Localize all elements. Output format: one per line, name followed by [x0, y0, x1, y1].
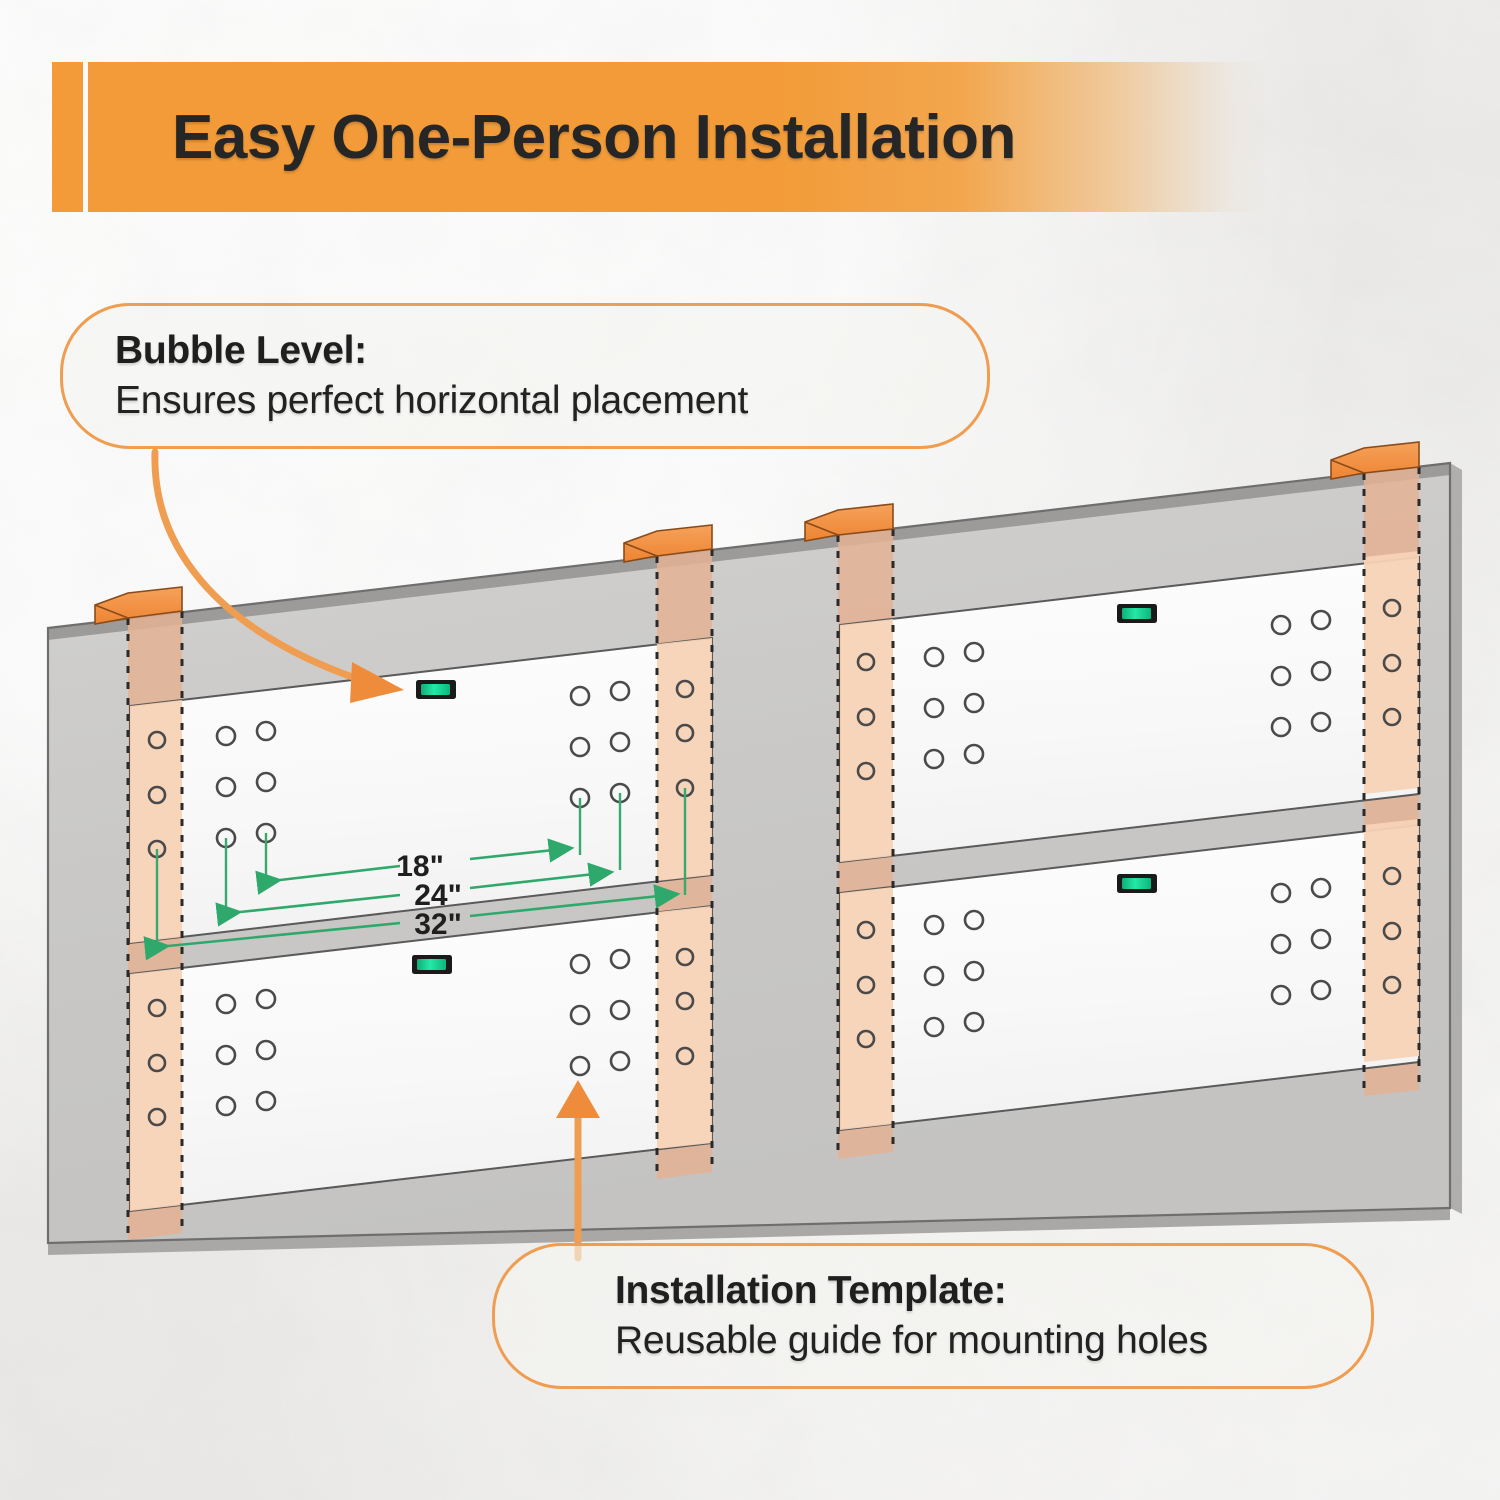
callout-installation-template-body: Reusable guide for mounting holes	[615, 1318, 1329, 1365]
bubble-level	[1117, 874, 1157, 893]
bubble-level	[412, 955, 452, 974]
dimension-label-32: 32"	[414, 908, 462, 941]
callout-bubble-level: Bubble Level: Ensures perfect horizontal…	[60, 303, 990, 449]
callout-installation-template: Installation Template: Reusable guide fo…	[492, 1243, 1374, 1389]
callout-bubble-level-title: Bubble Level:	[115, 328, 945, 374]
bubble-level	[416, 680, 456, 699]
callout-bubble-level-body: Ensures perfect horizontal placement	[115, 378, 945, 425]
callout-installation-template-title: Installation Template:	[615, 1268, 1329, 1314]
bubble-level	[1117, 604, 1157, 623]
